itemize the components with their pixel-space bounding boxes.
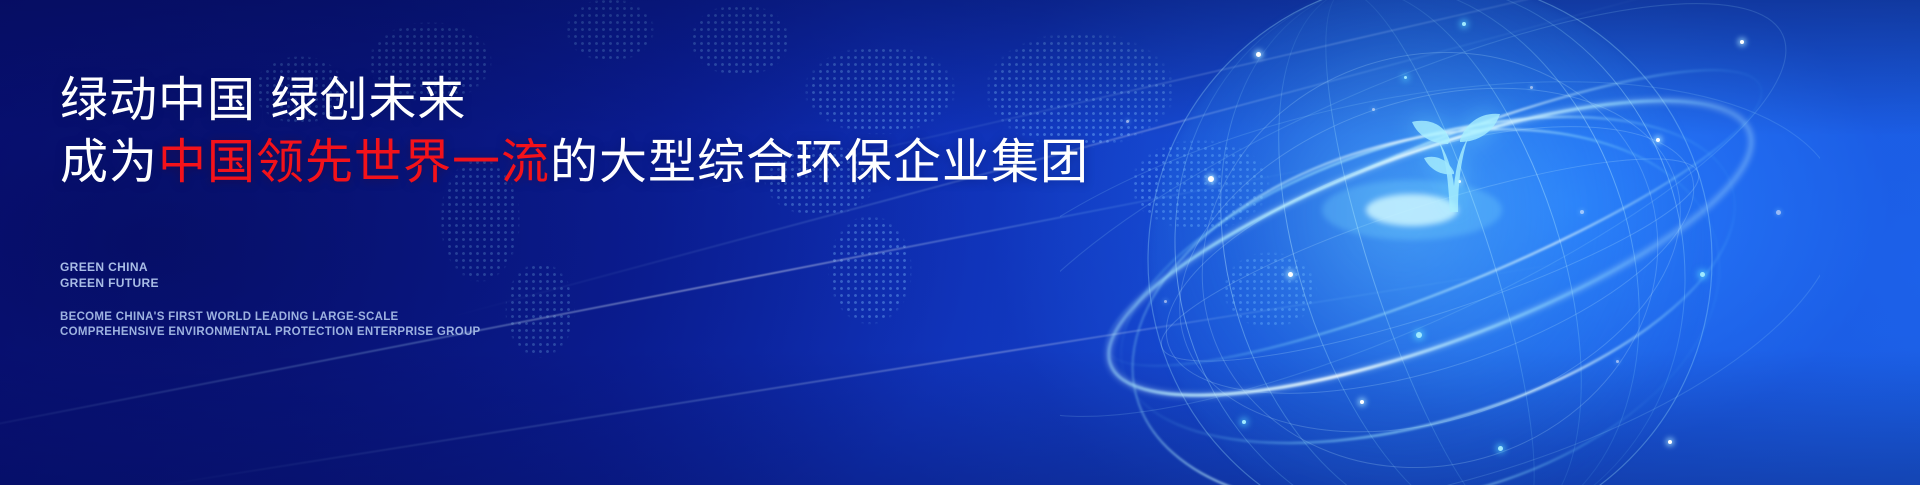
tagline-english: GREEN CHINA GREEN FUTURE [60,260,159,291]
hero-banner: 绿动中国 绿创未来 成为中国领先世界一流的大型综合环保企业集团 GREEN CH… [0,0,1920,485]
subtitle-line-2: COMPREHENSIVE ENVIRONMENTAL PROTECTION E… [60,325,481,340]
headline-line-2-highlight: 中国领先世界一流 [158,136,550,189]
headline-block: 绿动中国 绿创未来 成为中国领先世界一流的大型综合环保企业集团 [60,72,1060,192]
headline-line-2-suffix: 的大型综合环保企业集团 [550,136,1089,189]
subtitle-english: BECOME CHINA'S FIRST WORLD LEADING LARGE… [60,310,481,339]
tagline-line-1: GREEN CHINA [60,260,159,276]
headline-line-2: 成为中国领先世界一流的大型综合环保企业集团 [60,134,1060,192]
headline-line-2-prefix: 成为 [60,136,158,189]
subtitle-line-1: BECOME CHINA'S FIRST WORLD LEADING LARGE… [60,310,481,325]
green-sprout-icon [1388,100,1518,218]
tagline-line-2: GREEN FUTURE [60,276,159,292]
headline-line-1: 绿动中国 绿创未来 [60,72,1060,130]
